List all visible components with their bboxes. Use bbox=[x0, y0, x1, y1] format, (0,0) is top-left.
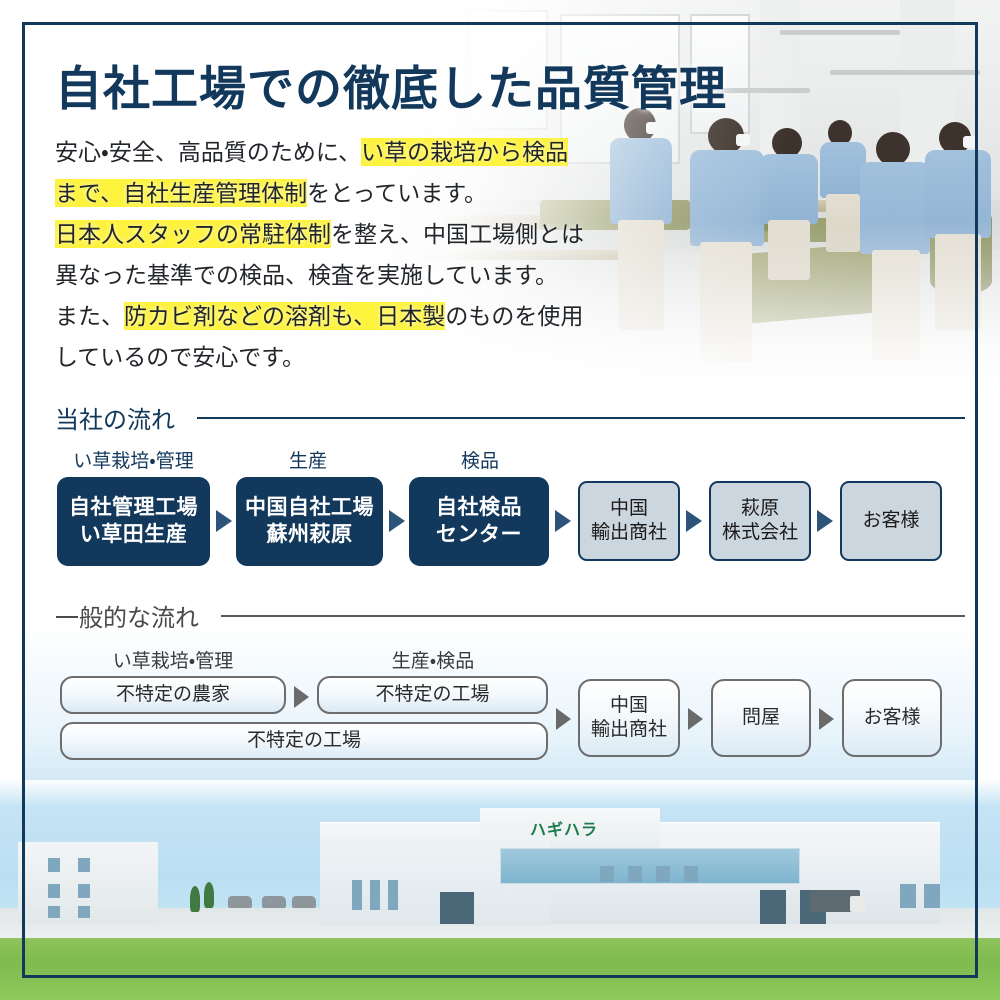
arrow-icon bbox=[556, 708, 571, 730]
arrow-icon bbox=[688, 708, 703, 730]
section-header-our-flow: 当社の流れ bbox=[55, 400, 965, 435]
divider-line bbox=[221, 615, 965, 617]
flow-box-our-6[interactable]: お客様 bbox=[840, 481, 942, 561]
arrow-icon bbox=[686, 510, 702, 532]
paragraph-line: 安心・安全、高品質のために、い草の栽培から検品 bbox=[55, 132, 675, 173]
body-text: を整え、中国工場側とは bbox=[331, 221, 584, 247]
flow-box-our-4[interactable]: 中国 輸出商社 bbox=[578, 481, 680, 561]
paragraph-line: しているので安心です。 bbox=[55, 337, 675, 378]
paragraph-line: 日本人スタッフの常駐体制を整え、中国工場側とは bbox=[55, 214, 675, 255]
body-text: 安心・安全、高品質のために、 bbox=[55, 139, 361, 165]
arrow-icon bbox=[819, 708, 834, 730]
flow-box-our-3[interactable]: 自社検品 センター bbox=[409, 477, 549, 566]
infographic-canvas: 自社工場での徹底した品質管理 安心・安全、高品質のために、い草の栽培から検品 ま… bbox=[0, 0, 1000, 1000]
stage-label-general-1: い草栽培・管理 bbox=[62, 646, 284, 673]
flow-box-general-3[interactable]: 不特定の工場 bbox=[60, 722, 548, 760]
highlighted-text: 防カビ剤などの溶剤も、日本製 bbox=[124, 302, 445, 330]
arrow-icon bbox=[294, 686, 309, 708]
paragraph-line: 異なった基準での検品、検査を実施しています。 bbox=[55, 255, 675, 296]
flow-box-our-1[interactable]: 自社管理工場 い草田生産 bbox=[57, 477, 210, 566]
body-text: をとっています。 bbox=[307, 180, 487, 206]
flow-box-general-5[interactable]: 問屋 bbox=[711, 679, 811, 757]
paragraph-line: まで、自社生産管理体制をとっています。 bbox=[55, 173, 675, 214]
stage-label-our-1: い草栽培・管理 bbox=[57, 446, 210, 473]
arrow-icon bbox=[216, 510, 232, 532]
flow-box-our-2[interactable]: 中国自社工場 蘇州萩原 bbox=[236, 477, 383, 566]
flow-box-general-6[interactable]: お客様 bbox=[842, 679, 942, 757]
highlighted-text: い草の栽培から検品 bbox=[361, 138, 568, 166]
page-title: 自社工場での徹底した品質管理 bbox=[55, 50, 727, 119]
arrow-icon bbox=[555, 510, 571, 532]
paragraph-line: また、防カビ剤などの溶剤も、日本製のものを使用 bbox=[55, 296, 675, 337]
body-text: のものを使用 bbox=[445, 303, 583, 329]
divider-line bbox=[197, 417, 965, 419]
section-header-general-flow: 一般的な流れ bbox=[55, 598, 965, 633]
arrow-icon bbox=[817, 510, 833, 532]
stage-label-our-2: 生産 bbox=[233, 446, 383, 473]
arrow-icon bbox=[389, 510, 405, 532]
flow-box-general-2[interactable]: 不特定の工場 bbox=[317, 676, 548, 714]
stage-label-general-2: 生産・検品 bbox=[318, 646, 548, 673]
body-text: 異なった基準での検品、検査を実施しています。 bbox=[55, 262, 558, 288]
body-text: また、 bbox=[55, 303, 124, 329]
section-title-general-flow: 一般的な流れ bbox=[55, 598, 199, 633]
intro-paragraph: 安心・安全、高品質のために、い草の栽培から検品 まで、自社生産管理体制をとってい… bbox=[55, 132, 675, 378]
flow-box-our-5[interactable]: 萩原 株式会社 bbox=[709, 481, 811, 561]
stage-label-our-3: 検品 bbox=[410, 446, 550, 473]
flow-box-general-1[interactable]: 不特定の農家 bbox=[60, 676, 286, 714]
highlighted-text: まで、自社生産管理体制 bbox=[55, 179, 307, 207]
building-sign: ハギハラ bbox=[530, 816, 598, 840]
body-text: しているので安心です。 bbox=[55, 344, 305, 370]
flow-box-general-4[interactable]: 中国 輸出商社 bbox=[578, 679, 680, 757]
highlighted-text: 日本人スタッフの常駐体制 bbox=[55, 220, 331, 248]
factory-building-photo: ハギハラ bbox=[0, 780, 1000, 1000]
section-title-our-flow: 当社の流れ bbox=[55, 400, 175, 435]
photo-top-fade bbox=[0, 780, 1000, 806]
